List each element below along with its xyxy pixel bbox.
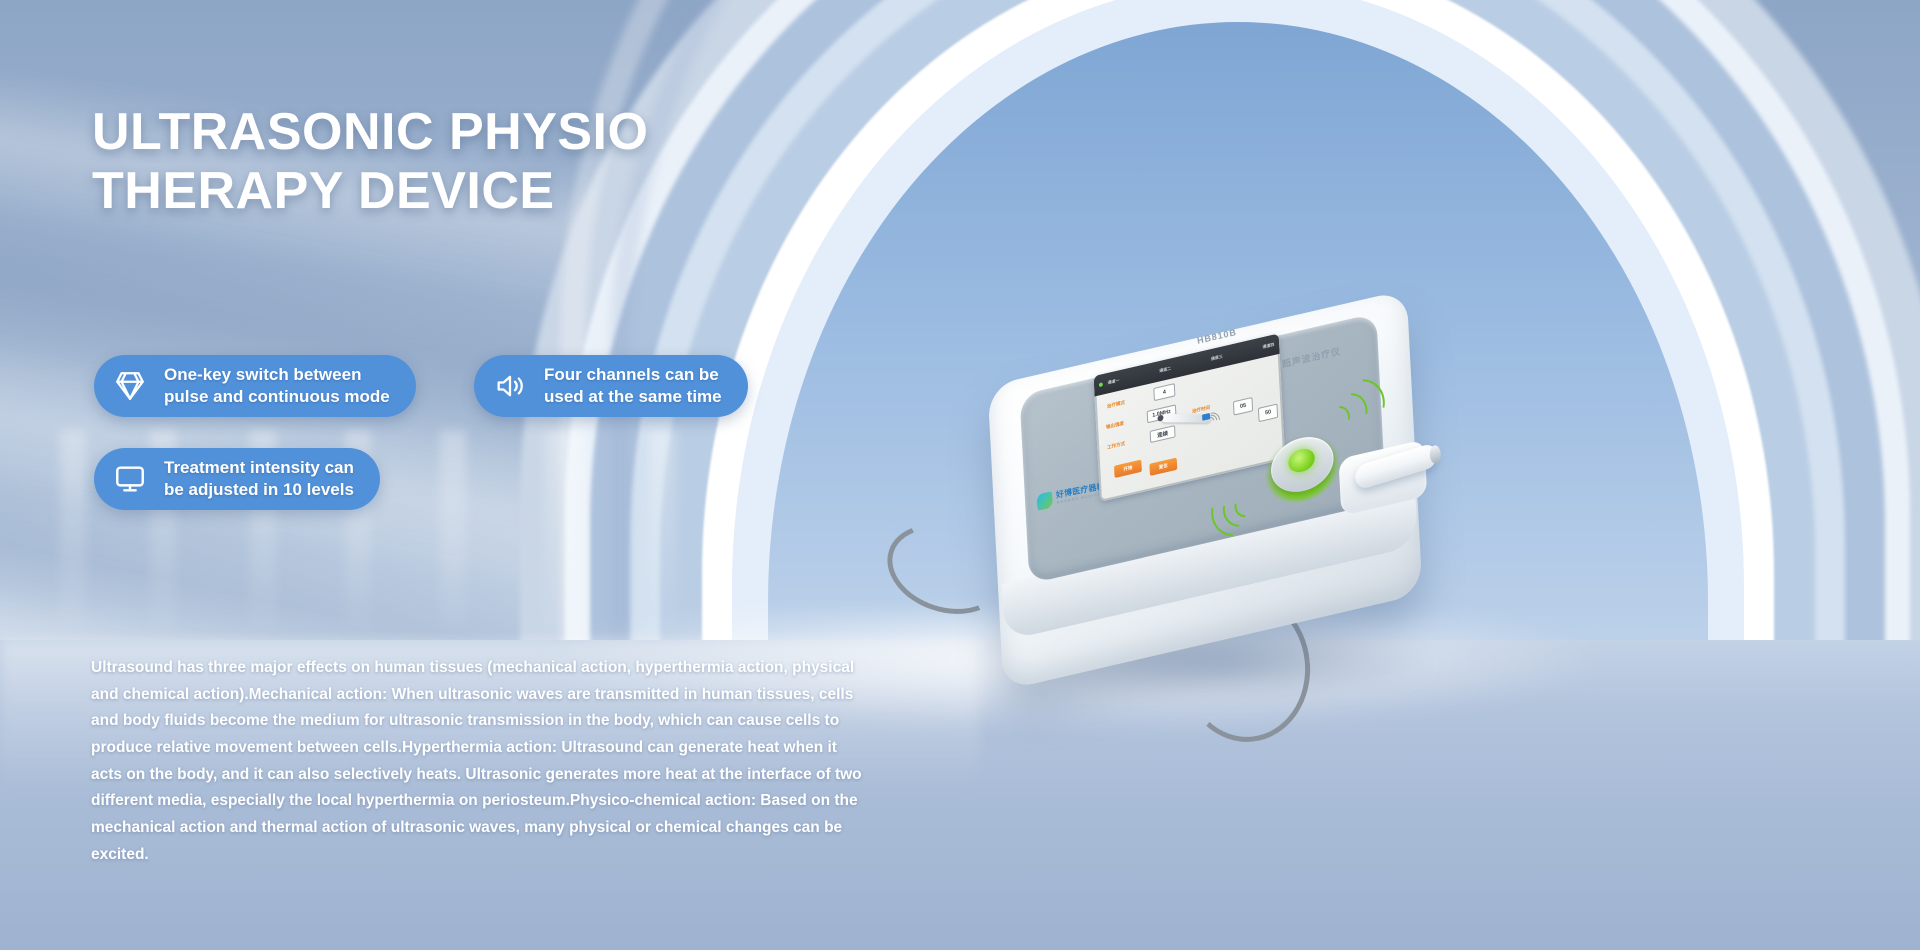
screen-field-label-1: 输出强度 — [1106, 420, 1124, 430]
feature-pill-label: One-key switch between pulse and continu… — [164, 364, 390, 408]
screen-value-intensity[interactable]: 4 — [1153, 383, 1175, 401]
screen-field-label-2: 工作方式 — [1107, 441, 1125, 451]
page-title: ULTRASONIC PHYSIO THERAPY DEVICE — [92, 103, 912, 222]
page-title-line2: THERAPY DEVICE — [92, 162, 912, 221]
screen-value-time-sec[interactable]: 50 — [1258, 403, 1278, 422]
screen-start-button[interactable]: 开始 — [1114, 460, 1142, 478]
screen-value-mode[interactable]: 连续 — [1150, 425, 1176, 443]
description-paragraph: Ultrasound has three major effects on hu… — [91, 655, 866, 868]
screen-field-label-0: 治疗模式 — [1107, 400, 1125, 410]
feature-pill-label: Treatment intensity can be adjusted in 1… — [164, 457, 354, 501]
screen-tab-3[interactable]: 通道三 — [1211, 354, 1223, 363]
screen-reset-button[interactable]: 复位 — [1149, 458, 1177, 476]
feature-pill-label: Four channels can be used at the same ti… — [544, 364, 722, 408]
screen-tab-1[interactable]: 通道一 — [1108, 377, 1120, 386]
screen-wave-icon — [1206, 413, 1226, 436]
feature-pill-pulse-mode[interactable]: One-key switch between pulse and continu… — [94, 355, 416, 417]
ultrasonic-therapy-device: HB810B 超声波治疗仪 好博医疗器械 HAOBRO MEDICAL DEVI… — [988, 290, 1423, 691]
diamond-icon — [110, 366, 150, 406]
device-photo: HB810B 超声波治疗仪 好博医疗器械 HAOBRO MEDICAL DEVI… — [880, 330, 1580, 810]
page-title-line1: ULTRASONIC PHYSIO — [92, 103, 648, 161]
feature-pill-four-channels[interactable]: Four channels can be used at the same ti… — [474, 355, 748, 417]
feature-pill-intensity-levels[interactable]: Treatment intensity can be adjusted in 1… — [94, 448, 380, 510]
speaker-icon — [490, 366, 530, 406]
monitor-icon — [110, 459, 150, 499]
promo-banner: ULTRASONIC PHYSIO THERAPY DEVICE One-key… — [0, 0, 1920, 950]
power-indicator-icon — [1099, 382, 1103, 387]
leaf-icon — [1036, 492, 1054, 511]
screen-value-time-min[interactable]: 05 — [1233, 397, 1253, 416]
screen-tab-2[interactable]: 通道二 — [1159, 365, 1171, 374]
screen-tab-4[interactable]: 通道四 — [1262, 342, 1274, 351]
